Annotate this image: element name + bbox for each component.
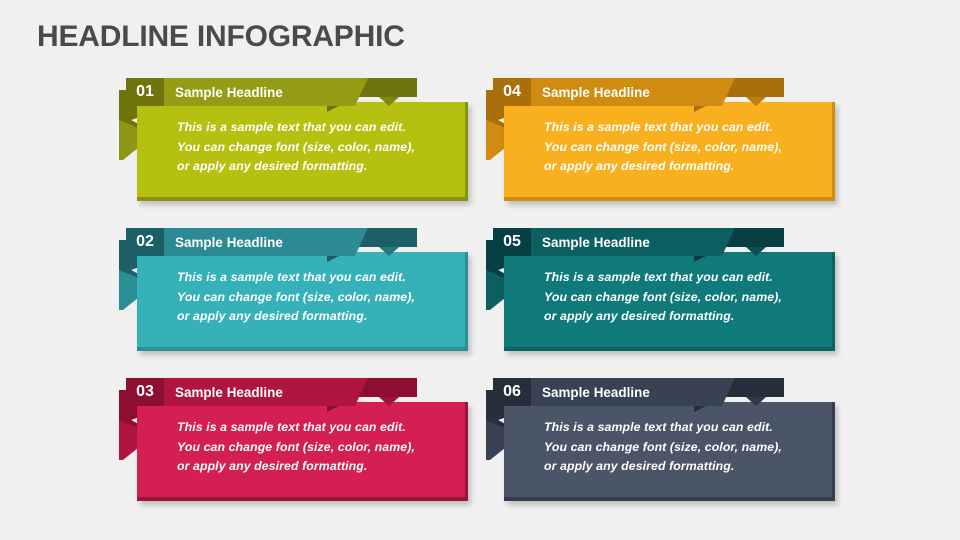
- card-body-panel: This is a sample text that you can edit.…: [137, 402, 468, 501]
- card-header-ribbon[interactable]: 01 Sample Headline: [126, 78, 368, 106]
- infographic-card[interactable]: This is a sample text that you can edit.…: [119, 376, 468, 501]
- card-headline: Sample Headline: [175, 78, 283, 106]
- card-headline: Sample Headline: [175, 378, 283, 406]
- card-number-label: 02: [126, 228, 164, 256]
- card-number-label: 01: [126, 78, 164, 106]
- card-number-box: 02: [126, 228, 164, 256]
- card-number-label: 06: [493, 378, 531, 406]
- card-headline: Sample Headline: [542, 228, 650, 256]
- card-body-text: This is a sample text that you can edit.…: [177, 418, 415, 477]
- card-body-text: This is a sample text that you can edit.…: [177, 268, 415, 327]
- infographic-card-grid: This is a sample text that you can edit.…: [0, 0, 960, 540]
- card-header-ribbon[interactable]: 06 Sample Headline: [493, 378, 735, 406]
- card-number-label: 03: [126, 378, 164, 406]
- infographic-card[interactable]: This is a sample text that you can edit.…: [119, 76, 468, 201]
- card-body-panel: This is a sample text that you can edit.…: [504, 252, 835, 351]
- card-header-ribbon[interactable]: 03 Sample Headline: [126, 378, 368, 406]
- card-header-ribbon[interactable]: 04 Sample Headline: [493, 78, 735, 106]
- infographic-card[interactable]: This is a sample text that you can edit.…: [486, 226, 835, 351]
- card-number-label: 05: [493, 228, 531, 256]
- card-body-panel: This is a sample text that you can edit.…: [137, 252, 468, 351]
- card-body-text: This is a sample text that you can edit.…: [177, 118, 415, 177]
- card-header-ribbon[interactable]: 05 Sample Headline: [493, 228, 735, 256]
- card-body-panel: This is a sample text that you can edit.…: [504, 402, 835, 501]
- infographic-card[interactable]: This is a sample text that you can edit.…: [486, 76, 835, 201]
- card-headline: Sample Headline: [175, 228, 283, 256]
- card-body-panel: This is a sample text that you can edit.…: [137, 102, 468, 201]
- card-number-box: 06: [493, 378, 531, 406]
- card-number-box: 04: [493, 78, 531, 106]
- card-headline: Sample Headline: [542, 378, 650, 406]
- infographic-card[interactable]: This is a sample text that you can edit.…: [119, 226, 468, 351]
- infographic-card[interactable]: This is a sample text that you can edit.…: [486, 376, 835, 501]
- card-body-text: This is a sample text that you can edit.…: [544, 118, 782, 177]
- card-headline: Sample Headline: [542, 78, 650, 106]
- card-body-panel: This is a sample text that you can edit.…: [504, 102, 835, 201]
- card-number-box: 03: [126, 378, 164, 406]
- card-number-label: 04: [493, 78, 531, 106]
- card-body-text: This is a sample text that you can edit.…: [544, 268, 782, 327]
- card-number-box: 05: [493, 228, 531, 256]
- card-body-text: This is a sample text that you can edit.…: [544, 418, 782, 477]
- card-number-box: 01: [126, 78, 164, 106]
- card-header-ribbon[interactable]: 02 Sample Headline: [126, 228, 368, 256]
